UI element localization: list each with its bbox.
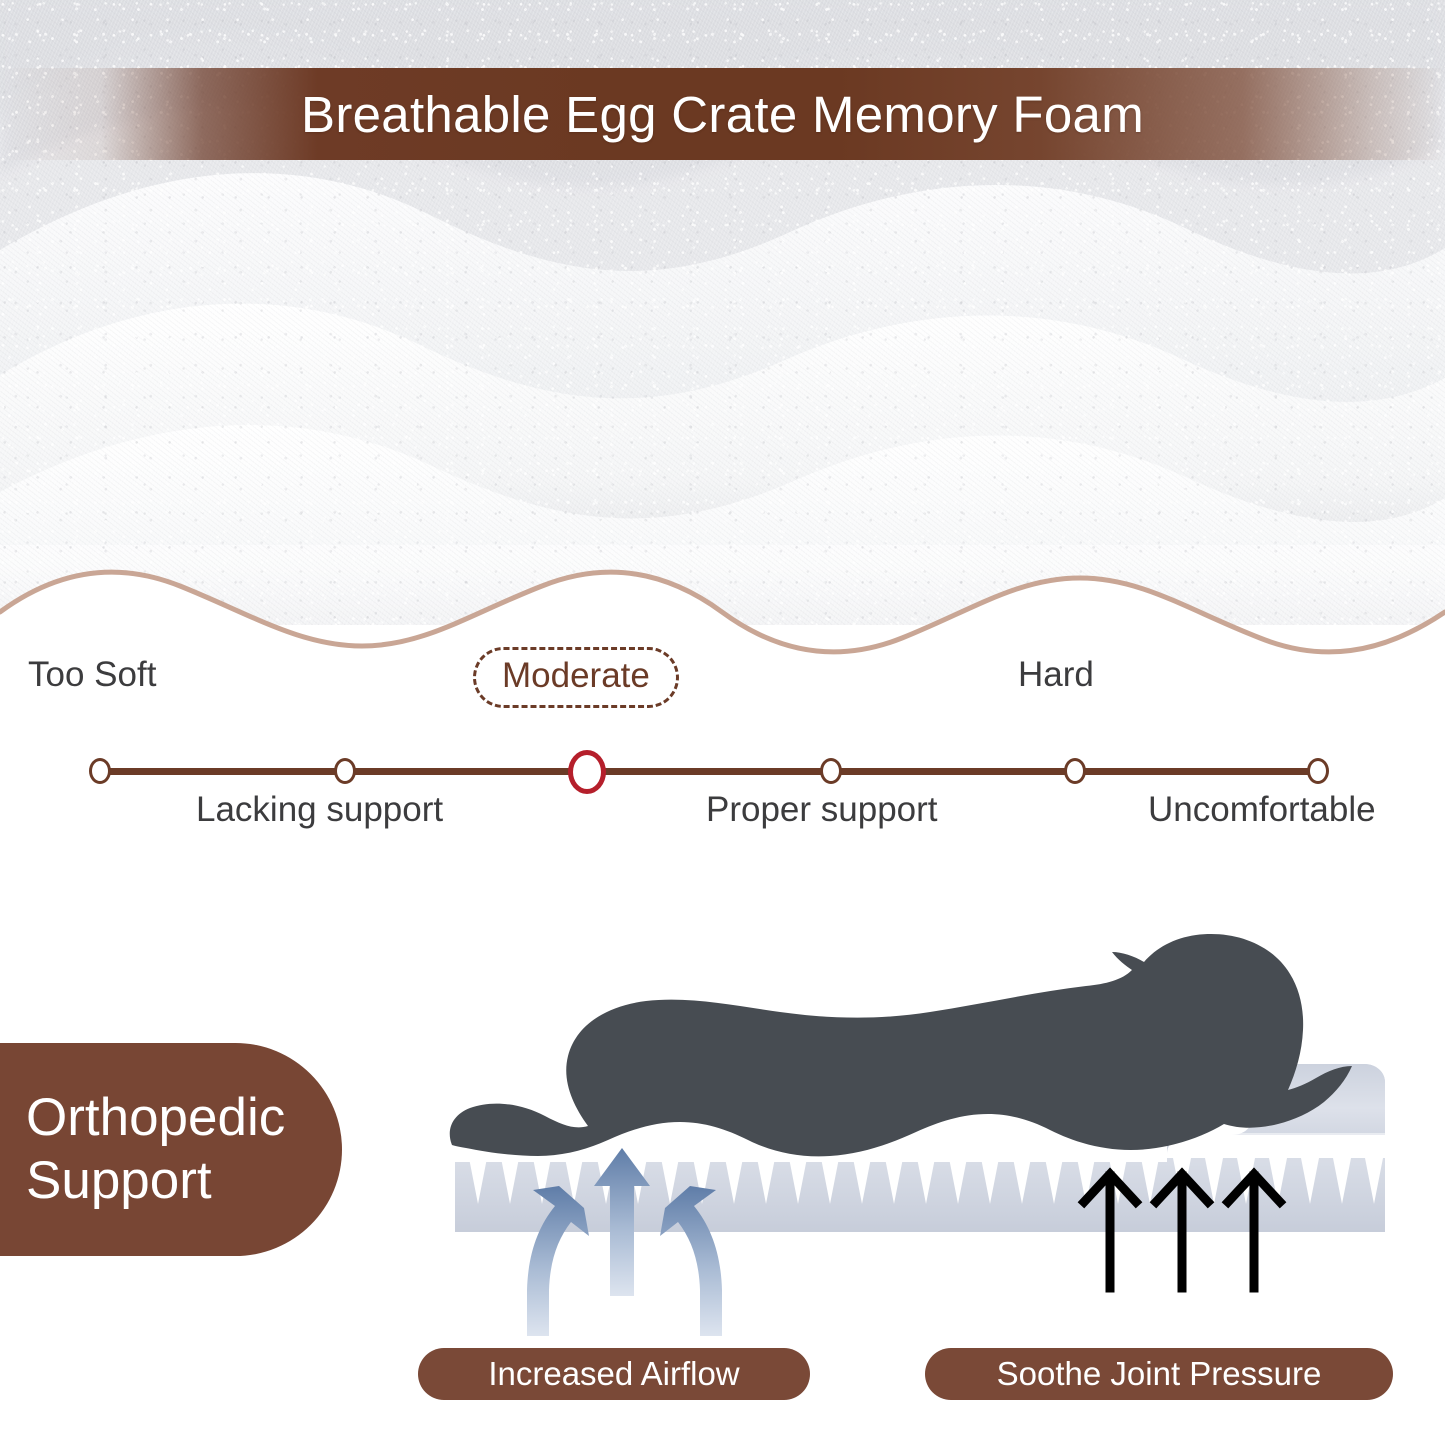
dog-silhouette [450, 934, 1352, 1156]
feature-pill-label: Soothe Joint Pressure [997, 1355, 1322, 1393]
slider-dot-3[interactable] [820, 758, 842, 784]
slider-dot-4[interactable] [1064, 758, 1086, 784]
feature-pill-soothe-joint-pressure[interactable]: Soothe Joint Pressure [925, 1348, 1393, 1400]
wave-divider [0, 560, 1445, 670]
slider-dot-2-active[interactable] [568, 750, 606, 794]
scale-sublabel-uncomfortable: Uncomfortable [1148, 790, 1376, 830]
scale-label-too-soft: Too Soft [28, 655, 156, 695]
scale-sublabel-proper-support: Proper support [706, 790, 938, 830]
scale-sublabel-lacking-support: Lacking support [196, 790, 443, 830]
orthopedic-badge-line2: Support [26, 1150, 342, 1213]
page-title: Breathable Egg Crate Memory Foam [301, 85, 1144, 144]
pressure-arrows [1084, 1174, 1280, 1288]
orthopedic-badge-line1: Orthopedic [26, 1087, 342, 1150]
scale-label-hard: Hard [1018, 655, 1094, 695]
title-banner: Breathable Egg Crate Memory Foam [0, 68, 1445, 160]
orthopedic-support-badge: Orthopedic Support [0, 1043, 342, 1256]
feature-pill-increased-airflow[interactable]: Increased Airflow [418, 1348, 810, 1400]
firmness-scale: Too Soft Moderate Hard Lacking support P… [0, 655, 1445, 870]
feature-pill-label: Increased Airflow [488, 1355, 739, 1393]
slider-dot-1[interactable] [334, 758, 356, 784]
infographic-root: Breathable Egg Crate Memory Foam Too Sof… [0, 0, 1445, 1445]
slider-track[interactable] [100, 768, 1318, 775]
slider-dot-0[interactable] [89, 758, 111, 784]
slider-dot-5[interactable] [1307, 758, 1329, 784]
active-firmness-chip[interactable]: Moderate [473, 647, 679, 708]
